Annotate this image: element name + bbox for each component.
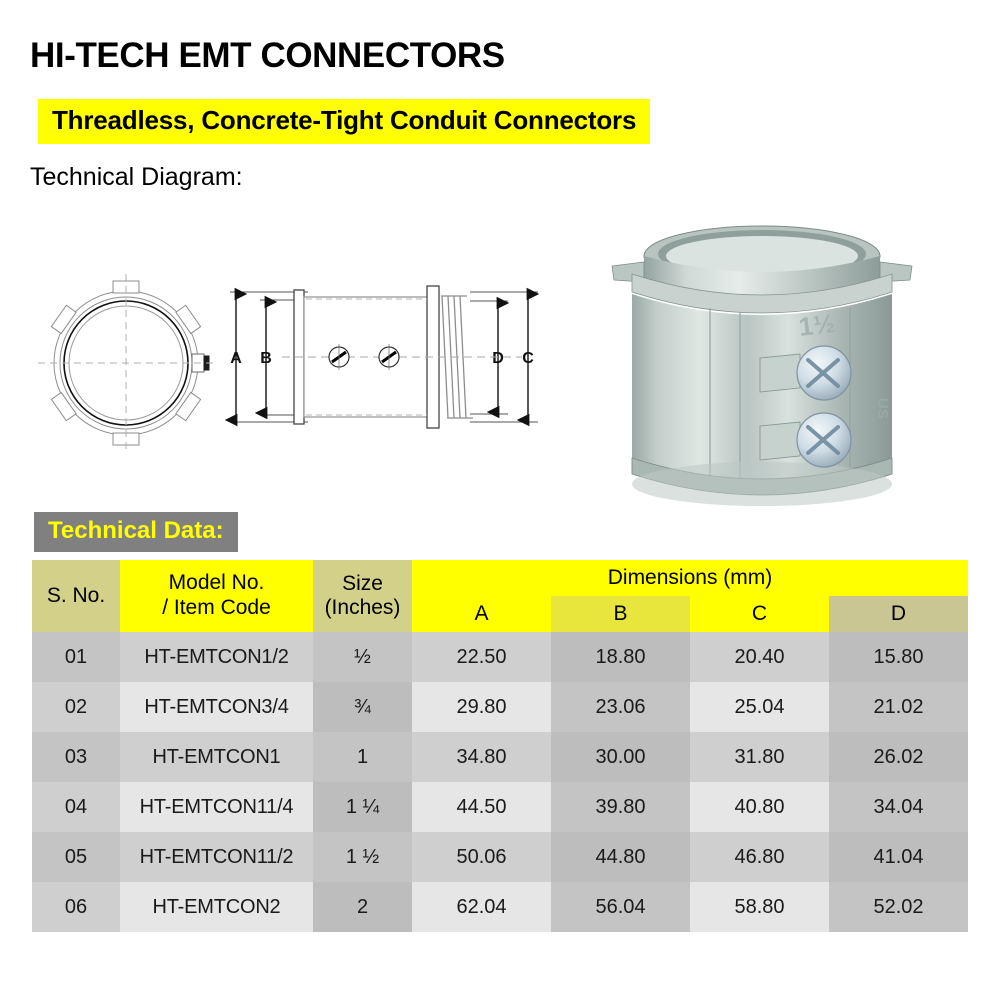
- cell-c: 58.80: [690, 882, 829, 932]
- technical-data-table: S. No. Model No. / Item Code Size (Inche…: [32, 560, 968, 932]
- cell-a: 44.50: [412, 782, 551, 832]
- cell-a: 22.50: [412, 632, 551, 682]
- cell-d: 15.80: [829, 632, 968, 682]
- cell-sno: 06: [32, 882, 120, 932]
- cell-b: 56.04: [551, 882, 690, 932]
- end-view-cross-section-drawing: [34, 268, 224, 458]
- cell-d: 26.02: [829, 732, 968, 782]
- cell-size: ½: [313, 632, 412, 682]
- cell-c: 31.80: [690, 732, 829, 782]
- cell-model: HT-EMTCON11/2: [120, 832, 313, 882]
- cell-c: 20.40: [690, 632, 829, 682]
- cell-sno: 02: [32, 682, 120, 732]
- set-screw: [797, 346, 851, 400]
- table-row: 06HT-EMTCON2262.0456.0458.8052.02: [32, 882, 968, 932]
- table-row: 03HT-EMTCON1134.8030.0031.8026.02: [32, 732, 968, 782]
- column-header-d: D: [829, 596, 968, 632]
- cell-sno: 03: [32, 732, 120, 782]
- table-row: 04HT-EMTCON11/41 ¼44.5039.8040.8034.04: [32, 782, 968, 832]
- model-header-line2: / Item Code: [162, 596, 271, 619]
- cell-sno: 04: [32, 782, 120, 832]
- subtitle-banner: Threadless, Concrete-Tight Conduit Conne…: [38, 99, 650, 144]
- cell-c: 25.04: [690, 682, 829, 732]
- technical-diagram-label: Technical Diagram:: [30, 163, 243, 192]
- cell-a: 62.04: [412, 882, 551, 932]
- table-row: 01HT-EMTCON1/2½22.5018.8020.4015.80: [32, 632, 968, 682]
- model-header-line1: Model No.: [169, 571, 265, 594]
- column-header-a: A: [412, 596, 551, 632]
- page-title: HI-TECH EMT CONNECTORS: [30, 36, 505, 76]
- cell-model: HT-EMTCON11/4: [120, 782, 313, 832]
- column-header-b: B: [551, 596, 690, 632]
- technical-diagram-area: A B D C: [0, 200, 1000, 530]
- cell-b: 39.80: [551, 782, 690, 832]
- cell-sno: 01: [32, 632, 120, 682]
- cell-size: ¾: [313, 682, 412, 732]
- cell-size: 1: [313, 732, 412, 782]
- table-row: 02HT-EMTCON3/4¾29.8023.0625.0421.02: [32, 682, 968, 732]
- cell-b: 44.80: [551, 832, 690, 882]
- cell-size: 1 ½: [313, 832, 412, 882]
- cell-model: HT-EMTCON1: [120, 732, 313, 782]
- column-header-c: C: [690, 596, 829, 632]
- size-header-line2: (Inches): [325, 596, 401, 619]
- size-header-line1: Size: [342, 572, 383, 595]
- dimension-label-d: D: [492, 350, 504, 367]
- cell-d: 34.04: [829, 782, 968, 832]
- cell-model: HT-EMTCON3/4: [120, 682, 313, 732]
- cell-sno: 05: [32, 832, 120, 882]
- cell-a: 29.80: [412, 682, 551, 732]
- cell-c: 46.80: [690, 832, 829, 882]
- embossed-size-marking: 1½: [797, 308, 837, 342]
- set-screw: [797, 413, 851, 467]
- cell-c: 40.80: [690, 782, 829, 832]
- cell-size: 1 ¼: [313, 782, 412, 832]
- cell-d: 52.02: [829, 882, 968, 932]
- column-header-model: Model No. / Item Code: [120, 560, 313, 632]
- side-view-dimensioned-drawing: A B D C: [222, 270, 542, 450]
- cell-a: 50.06: [412, 832, 551, 882]
- table-row: 05HT-EMTCON11/21 ½50.0644.8046.8041.04: [32, 832, 968, 882]
- column-header-dimensions: Dimensions (mm): [412, 560, 968, 596]
- cell-model: HT-EMTCON1/2: [120, 632, 313, 682]
- dimension-label-c: C: [522, 350, 534, 367]
- cell-b: 30.00: [551, 732, 690, 782]
- cell-a: 34.80: [412, 732, 551, 782]
- cell-b: 18.80: [551, 632, 690, 682]
- cell-d: 21.02: [829, 682, 968, 732]
- product-photo: 1½ US: [592, 208, 932, 528]
- column-header-size: Size (Inches): [313, 560, 412, 632]
- technical-data-badge: Technical Data:: [34, 512, 238, 552]
- cell-size: 2: [313, 882, 412, 932]
- cell-d: 41.04: [829, 832, 968, 882]
- table-header-row: S. No. Model No. / Item Code Size (Inche…: [32, 560, 968, 596]
- dimension-label-a: A: [230, 350, 242, 367]
- cell-b: 23.06: [551, 682, 690, 732]
- cell-model: HT-EMTCON2: [120, 882, 313, 932]
- column-header-sno: S. No.: [32, 560, 120, 632]
- dimension-label-b: B: [260, 350, 272, 367]
- listing-mark: US: [874, 398, 891, 419]
